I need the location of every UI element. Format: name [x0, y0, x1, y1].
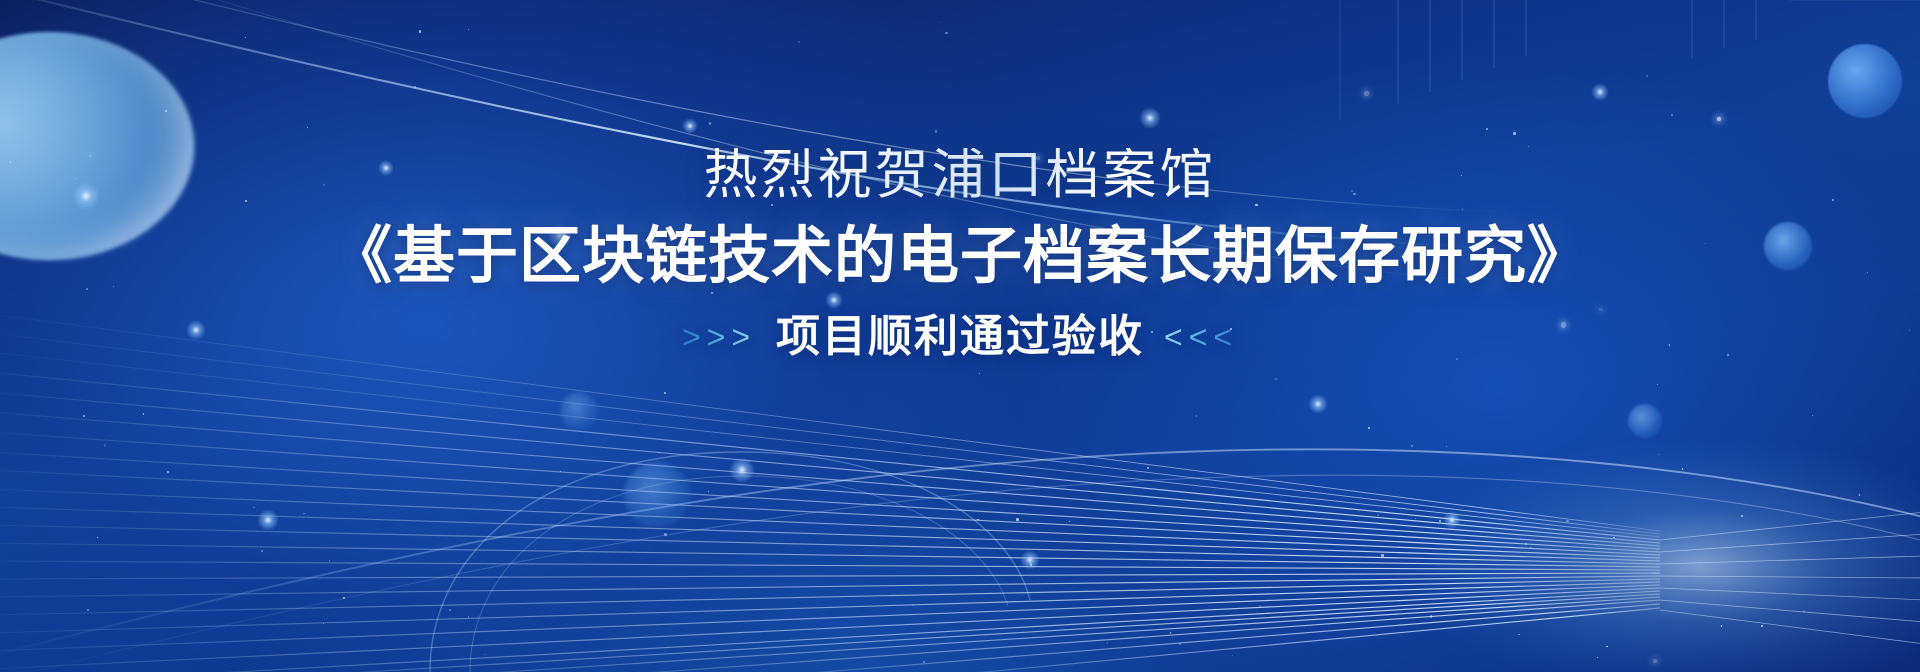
headline-block: 热烈祝贺浦口档案馆 《基于区块链技术的电子档案长期保存研究》 >>> 项目顺利通… [0, 0, 1920, 672]
chevron-left-decoration-icon: >>> [682, 321, 756, 353]
headline-line-3-label: 项目顺利通过验收 [776, 315, 1144, 359]
headline-line-3: >>> 项目顺利通过验收 <<< [682, 315, 1238, 359]
headline-line-1: 热烈祝贺浦口档案馆 [704, 148, 1217, 202]
headline-line-2-project-title: 《基于区块链技术的电子档案长期保存研究》 [330, 224, 1590, 289]
chevron-right-decoration-icon: <<< [1164, 321, 1238, 353]
celebration-banner: 热烈祝贺浦口档案馆 《基于区块链技术的电子档案长期保存研究》 >>> 项目顺利通… [0, 0, 1920, 672]
